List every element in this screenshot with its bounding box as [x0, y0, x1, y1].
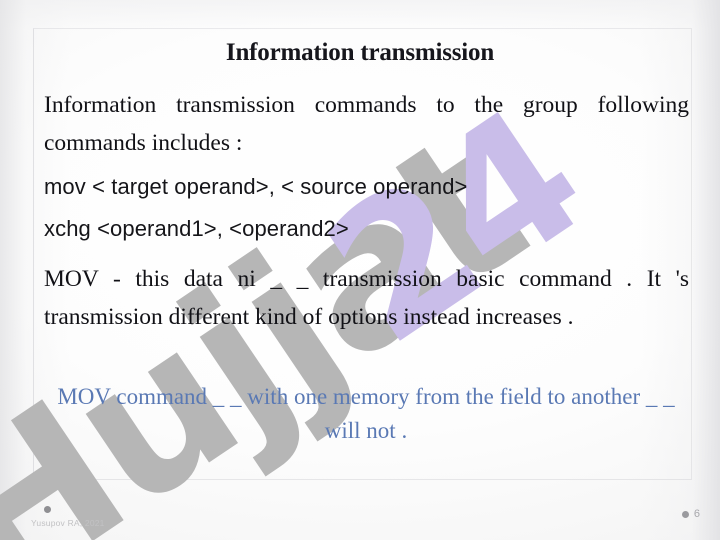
- mov-syntax-block: mov < target operand>, < source operand>: [44, 166, 689, 208]
- bullet-dot-icon-left: [44, 506, 51, 513]
- slide-footer: Yusupov RA, 2021 6: [0, 496, 720, 540]
- bullet-dot-icon-right: [682, 511, 689, 518]
- xchg-syntax-block: xchg <operand1>, <operand2>: [44, 208, 689, 250]
- mov-note-paragraph: MOV command _ _ with one memory from the…: [40, 380, 692, 448]
- mov-description-paragraph: MOV - this data ni _ _ transmission basi…: [44, 260, 689, 336]
- xchg-syntax-line: xchg <operand1>, <operand2>: [44, 208, 689, 250]
- page-number: 6: [694, 508, 700, 520]
- mov-note-block: MOV command _ _ with one memory from the…: [40, 380, 692, 448]
- slide-body: Information transmission Information tra…: [0, 0, 720, 540]
- footer-author-text: Yusupov RA, 2021: [31, 518, 105, 528]
- intro-paragraph-block: Information transmission commands to the…: [44, 86, 689, 162]
- mov-syntax-line: mov < target operand>, < source operand>: [44, 166, 689, 208]
- mov-description-block: MOV - this data ni _ _ transmission basi…: [44, 260, 689, 336]
- page-title: Information transmission: [40, 38, 680, 68]
- slide-canvas: Hujjat 24 Information transmission Infor…: [0, 0, 720, 540]
- intro-paragraph: Information transmission commands to the…: [44, 86, 689, 162]
- page-number-group: 6: [682, 508, 700, 520]
